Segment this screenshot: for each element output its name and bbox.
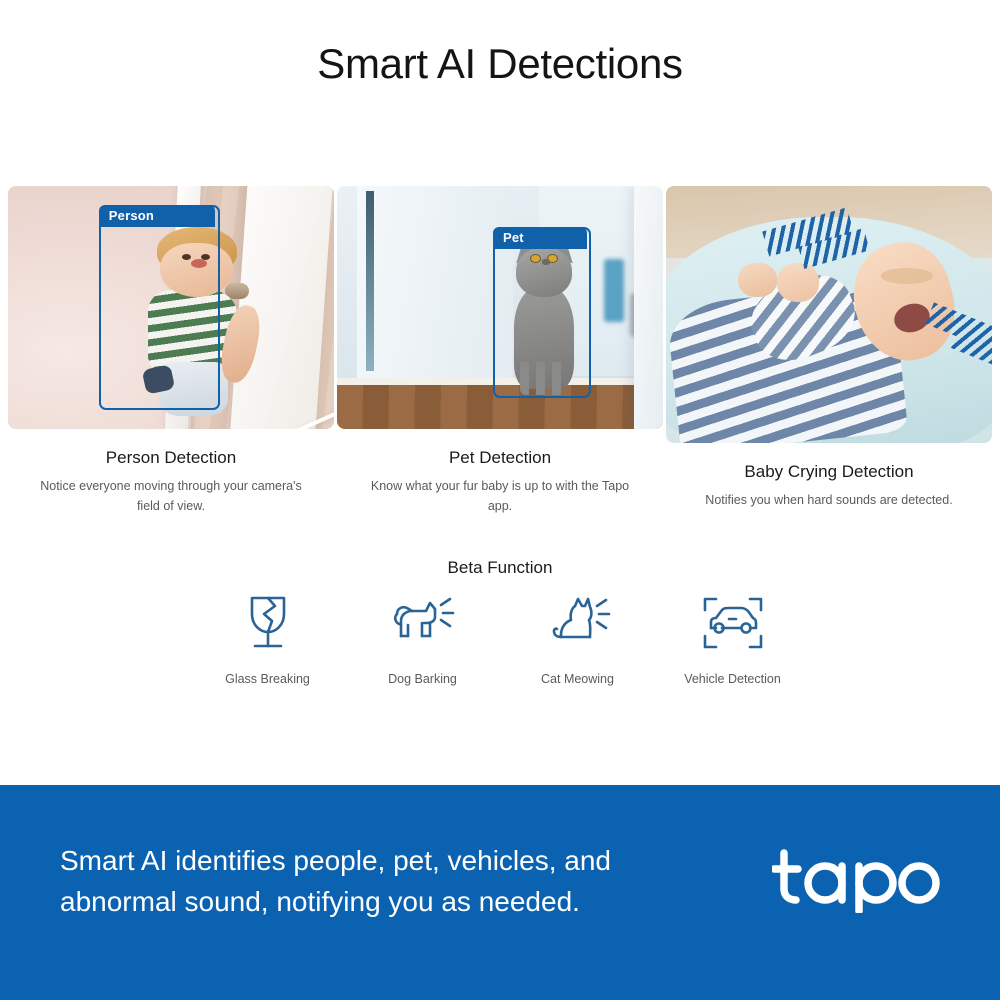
baby-crying-detection-image xyxy=(666,186,992,443)
door-gap xyxy=(366,191,374,371)
cat-scene: Pet xyxy=(337,186,663,429)
baby-brow xyxy=(881,268,933,283)
beta-function-row: Glass Breaking Dog Barking xyxy=(190,592,810,686)
feature-card-pet[interactable]: Pet Pet Detection Know what your fur bab… xyxy=(337,186,663,516)
background-object-blue xyxy=(604,259,624,322)
person-detection-image: Person xyxy=(8,186,334,429)
beta-item-cat-meowing[interactable]: Cat Meowing xyxy=(500,592,655,686)
beta-item-vehicle-detection[interactable]: Vehicle Detection xyxy=(655,592,810,686)
beta-function-heading: Beta Function xyxy=(0,558,1000,578)
feature-card-baby-crying[interactable]: Baby Crying Detection Notifies you when … xyxy=(666,186,992,516)
beta-label-glass-breaking: Glass Breaking xyxy=(225,672,310,686)
pet-detection-image: Pet xyxy=(337,186,663,429)
beta-label-vehicle-detection: Vehicle Detection xyxy=(684,672,781,686)
feature-title-baby-crying: Baby Crying Detection xyxy=(666,462,992,482)
beta-label-cat-meowing: Cat Meowing xyxy=(541,672,614,686)
detection-label-pet: Pet xyxy=(493,227,587,249)
beta-label-dog-barking: Dog Barking xyxy=(388,672,457,686)
pet-detection-box: Pet xyxy=(493,227,591,397)
feature-card-person[interactable]: Person Person Detection Notice everyone … xyxy=(8,186,334,516)
cat-meowing-icon xyxy=(545,592,611,654)
baby-hand-left xyxy=(738,263,777,296)
feature-desc-person: Notice everyone moving through your came… xyxy=(8,477,334,516)
beta-item-dog-barking[interactable]: Dog Barking xyxy=(345,592,500,686)
detection-label-person: Person xyxy=(99,205,216,227)
feature-desc-baby-crying: Notifies you when hard sounds are detect… xyxy=(666,491,992,510)
beta-item-glass-breaking[interactable]: Glass Breaking xyxy=(190,592,345,686)
door-jamb xyxy=(634,186,663,429)
person-detection-box: Person xyxy=(99,205,220,409)
dog-barking-icon xyxy=(390,592,456,654)
broken-glass-icon xyxy=(242,592,294,654)
wall xyxy=(357,186,513,385)
feature-title-person: Person Detection xyxy=(8,448,334,468)
feature-desc-pet: Know what your fur baby is up to with th… xyxy=(337,477,663,516)
page-title: Smart AI Detections xyxy=(0,40,1000,88)
feature-card-row: Person Person Detection Notice everyone … xyxy=(8,186,992,516)
toddler-scene: Person xyxy=(8,186,334,429)
tapo-logo xyxy=(772,847,942,913)
marketing-page: Smart AI Detections xyxy=(0,0,1000,1000)
feature-title-pet: Pet Detection xyxy=(337,448,663,468)
vehicle-focus-icon xyxy=(700,592,766,654)
banner-tagline: Smart AI identifies people, pet, vehicle… xyxy=(60,840,700,923)
bottom-banner: Smart AI identifies people, pet, vehicle… xyxy=(0,785,1000,1000)
baby-hand-right xyxy=(777,263,819,302)
baby-scene xyxy=(666,186,992,443)
